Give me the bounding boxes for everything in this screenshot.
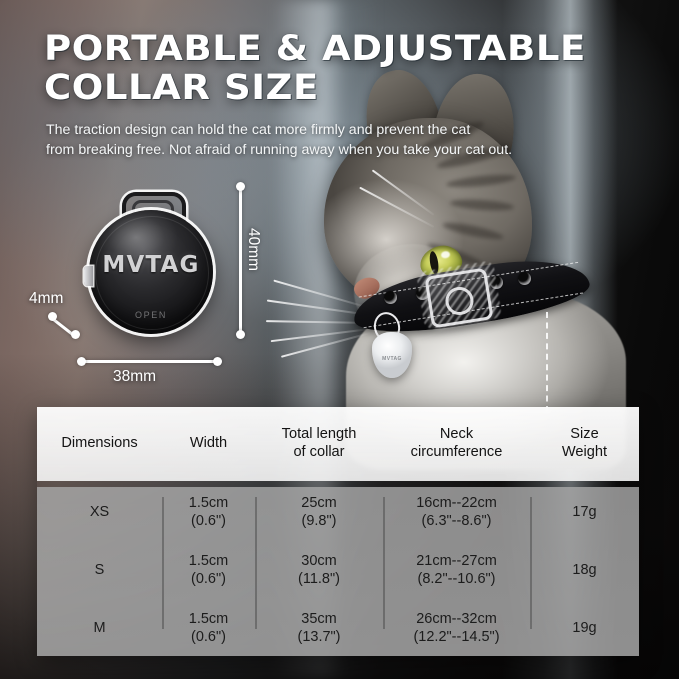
width-dim-dot-right: [213, 357, 222, 366]
thickness-dim-dot-bottom: [71, 330, 80, 339]
cell-width: 1.5cm (0.6"): [162, 611, 255, 646]
subtitle-line-1: The traction design can hold the cat mor…: [46, 121, 646, 141]
subtitle-line-2: from breaking free. Not afraid of runnin…: [46, 141, 646, 161]
table-row: S 1.5cm (0.6") 30cm (11.8") 21cm--27cm (…: [37, 545, 639, 597]
cell-weight: 18g: [530, 562, 639, 580]
device-brand-text: MVTAG: [84, 252, 218, 278]
table-header-dimensions: Dimensions: [37, 435, 162, 453]
cell-width: 1.5cm (0.6"): [162, 553, 255, 588]
table-row: XS 1.5cm (0.6") 25cm (9.8") 16cm--22cm (…: [37, 487, 639, 539]
table-header-neck-circumference: Neck circumference: [383, 426, 530, 462]
table-header-size-weight: Size Weight: [530, 426, 639, 462]
table-row: M 1.5cm (0.6") 35cm (13.7") 26cm--32cm (…: [37, 603, 639, 655]
product-infographic: MVTAG PORTABLE & ADJUSTABLE COLLAR SIZE …: [0, 0, 679, 679]
table-header-row: Dimensions Width Total length of collar …: [37, 407, 639, 481]
column-divider: [530, 497, 532, 629]
cell-total-length: 25cm (9.8"): [255, 495, 383, 530]
cell-neck-circumference: 16cm--22cm (6.3"--8.6"): [383, 495, 530, 530]
page-subtitle: The traction design can hold the cat mor…: [46, 121, 646, 160]
cell-size: S: [37, 562, 162, 580]
mvtag-device: MVTAG OPEN: [84, 192, 218, 340]
column-divider: [162, 497, 164, 629]
cell-total-length: 35cm (13.7"): [255, 611, 383, 646]
height-dim-dot-bottom: [236, 330, 245, 339]
size-table: Dimensions Width Total length of collar …: [37, 407, 639, 656]
cell-total-length: 30cm (11.8"): [255, 553, 383, 588]
table-body: XS 1.5cm (0.6") 25cm (9.8") 16cm--22cm (…: [37, 487, 639, 656]
thickness-dim-dot-top: [48, 312, 57, 321]
column-divider: [255, 497, 257, 629]
page-title: PORTABLE & ADJUSTABLE COLLAR SIZE: [44, 30, 638, 108]
title-line-1: PORTABLE & ADJUSTABLE: [44, 30, 638, 69]
cell-neck-circumference: 26cm--32cm (12.2"--14.5"): [383, 611, 530, 646]
cell-size: M: [37, 620, 162, 638]
height-dimension-label: 40mm: [244, 228, 262, 271]
width-dimension-line: [82, 360, 218, 363]
table-header-total-length: Total length of collar: [255, 426, 383, 462]
height-dim-dot-top: [236, 182, 245, 191]
cell-size: XS: [37, 504, 162, 522]
device-open-text: OPEN: [84, 310, 218, 320]
cell-weight: 17g: [530, 504, 639, 522]
width-dim-dot-left: [77, 357, 86, 366]
thickness-dimension-label: 4mm: [29, 290, 63, 308]
width-dimension-label: 38mm: [113, 368, 156, 386]
cell-weight: 19g: [530, 620, 639, 638]
table-header-width: Width: [162, 435, 255, 453]
column-divider: [383, 497, 385, 629]
cell-width: 1.5cm (0.6"): [162, 495, 255, 530]
height-dimension-line: [239, 187, 242, 335]
title-line-2: COLLAR SIZE: [44, 69, 638, 108]
collar-guide-line: [546, 312, 548, 412]
cell-neck-circumference: 21cm--27cm (8.2"--10.6"): [383, 553, 530, 588]
